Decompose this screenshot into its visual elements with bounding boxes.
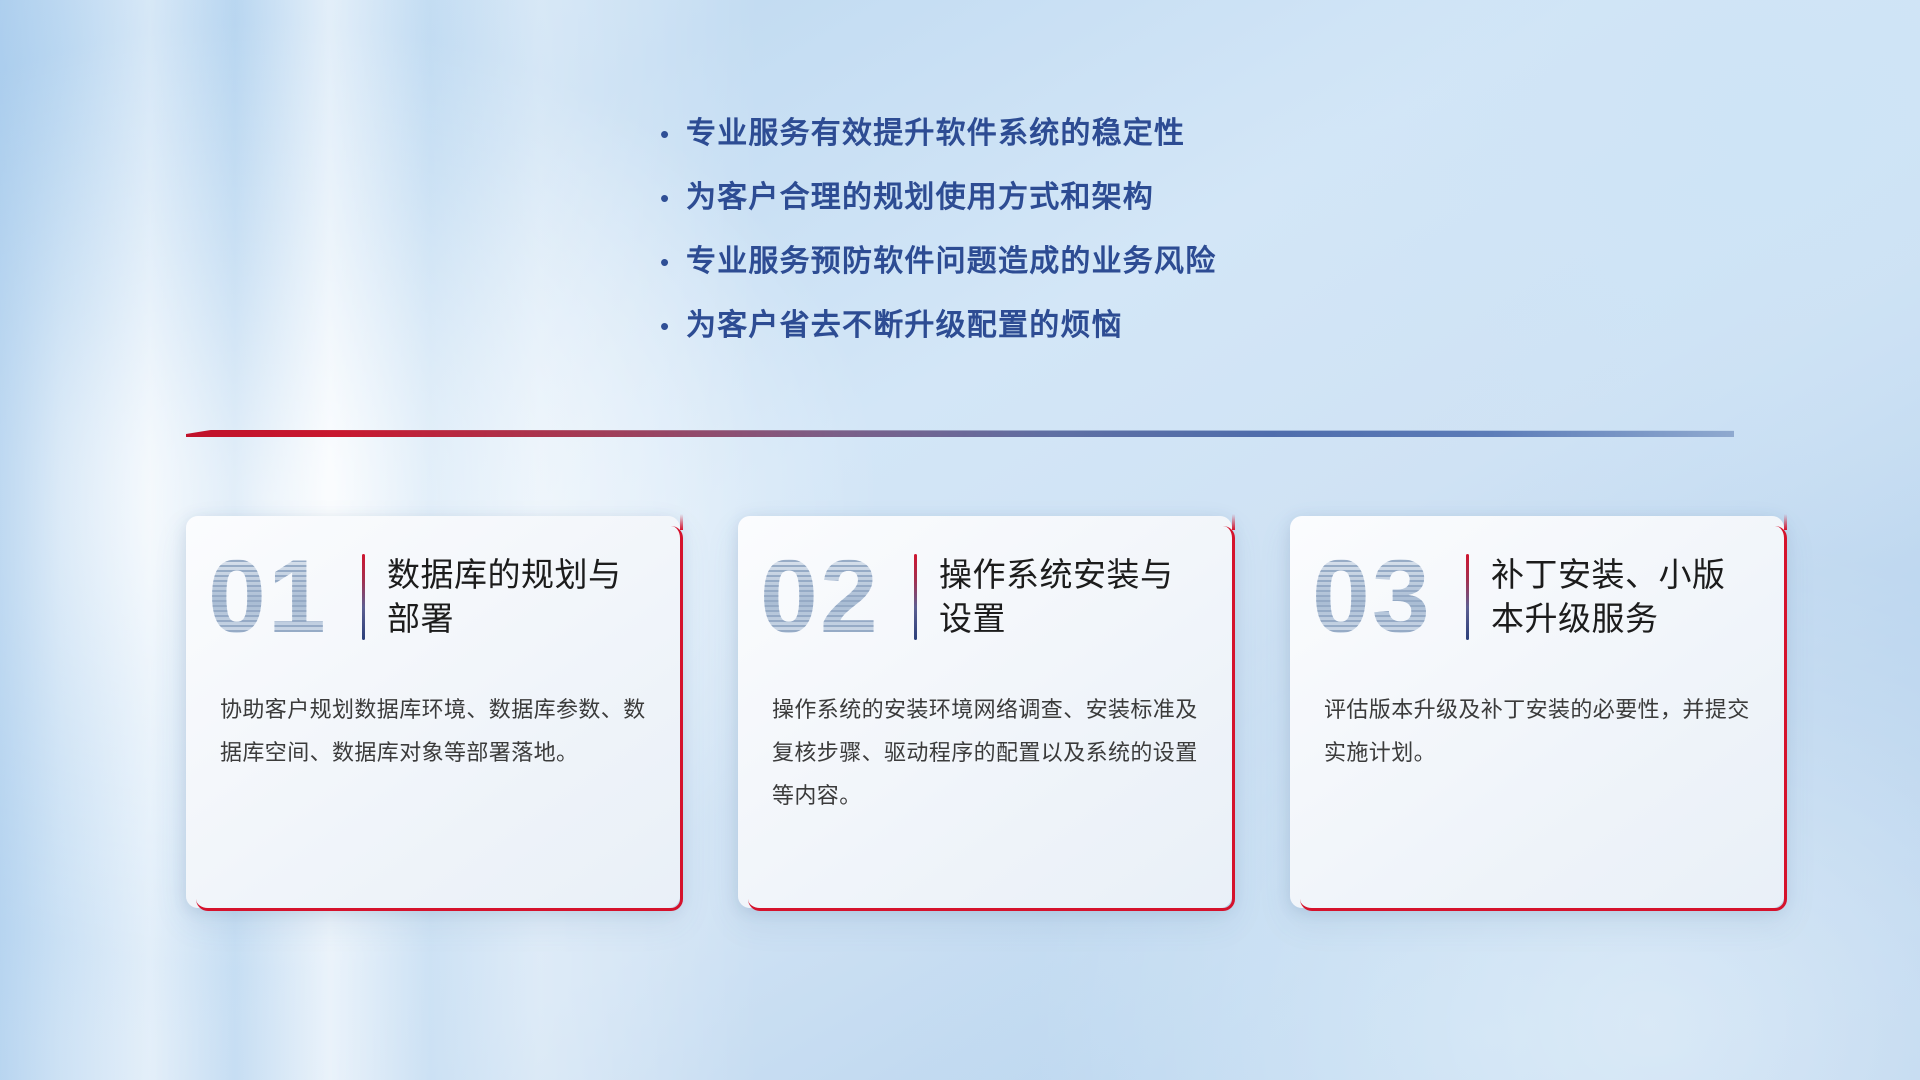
card-title-divider: [362, 554, 365, 640]
card-body-text: 评估版本升级及补丁安装的必要性，并提交实施计划。: [1290, 654, 1784, 774]
card-title: 操作系统安装与设置: [939, 553, 1204, 640]
bullet-text: 为客户省去不断升级配置的烦恼: [686, 300, 1123, 344]
service-card-02[interactable]: 02 操作系统安装与设置 操作系统的安装环境网络调查、安装标准及复核步骤、驱动程…: [738, 516, 1232, 908]
card-number: 03: [1312, 545, 1462, 649]
card-header: 03 补丁安装、小版本升级服务: [1290, 516, 1784, 654]
service-card-group: 01 数据库的规划与部署 协助客户规划数据库环境、数据库参数、数据库空间、数据库…: [186, 516, 1786, 908]
benefits-bullet-list: • 专业服务有效提升软件系统的稳定性 • 为客户合理的规划使用方式和架构 • 专…: [660, 108, 1216, 364]
card-title-divider: [914, 554, 917, 640]
bullet-dot-icon: •: [660, 313, 686, 339]
card-title: 数据库的规划与部署: [387, 553, 652, 640]
divider-line: [186, 430, 1734, 437]
card-accent-edge-top: [1232, 514, 1235, 530]
card-number: 01: [208, 545, 358, 649]
card-header: 01 数据库的规划与部署: [186, 516, 680, 654]
list-item: • 专业服务预防软件问题造成的业务风险: [660, 236, 1216, 300]
service-card-03[interactable]: 03 补丁安装、小版本升级服务 评估版本升级及补丁安装的必要性，并提交实施计划。: [1290, 516, 1784, 908]
bullet-dot-icon: •: [660, 249, 686, 275]
card-accent-edge-top: [680, 514, 683, 530]
bullet-dot-icon: •: [660, 185, 686, 211]
card-accent-edge-top: [1784, 514, 1787, 530]
bullet-text: 专业服务有效提升软件系统的稳定性: [686, 108, 1185, 152]
card-number: 02: [760, 545, 910, 649]
list-item: • 为客户合理的规划使用方式和架构: [660, 172, 1216, 236]
bullet-text: 专业服务预防软件问题造成的业务风险: [686, 236, 1216, 280]
list-item: • 专业服务有效提升软件系统的稳定性: [660, 108, 1216, 172]
card-body-text: 操作系统的安装环境网络调查、安装标准及复核步骤、驱动程序的配置以及系统的设置等内…: [738, 654, 1232, 817]
card-title-divider: [1466, 554, 1469, 640]
service-card-01[interactable]: 01 数据库的规划与部署 协助客户规划数据库环境、数据库参数、数据库空间、数据库…: [186, 516, 680, 908]
card-body-text: 协助客户规划数据库环境、数据库参数、数据库空间、数据库对象等部署落地。: [186, 654, 680, 774]
bullet-text: 为客户合理的规划使用方式和架构: [686, 172, 1154, 216]
card-title: 补丁安装、小版本升级服务: [1491, 553, 1756, 640]
bullet-dot-icon: •: [660, 121, 686, 147]
card-header: 02 操作系统安装与设置: [738, 516, 1232, 654]
section-divider: [186, 430, 1734, 446]
list-item: • 为客户省去不断升级配置的烦恼: [660, 300, 1216, 364]
slide-canvas: • 专业服务有效提升软件系统的稳定性 • 为客户合理的规划使用方式和架构 • 专…: [0, 0, 1920, 1080]
